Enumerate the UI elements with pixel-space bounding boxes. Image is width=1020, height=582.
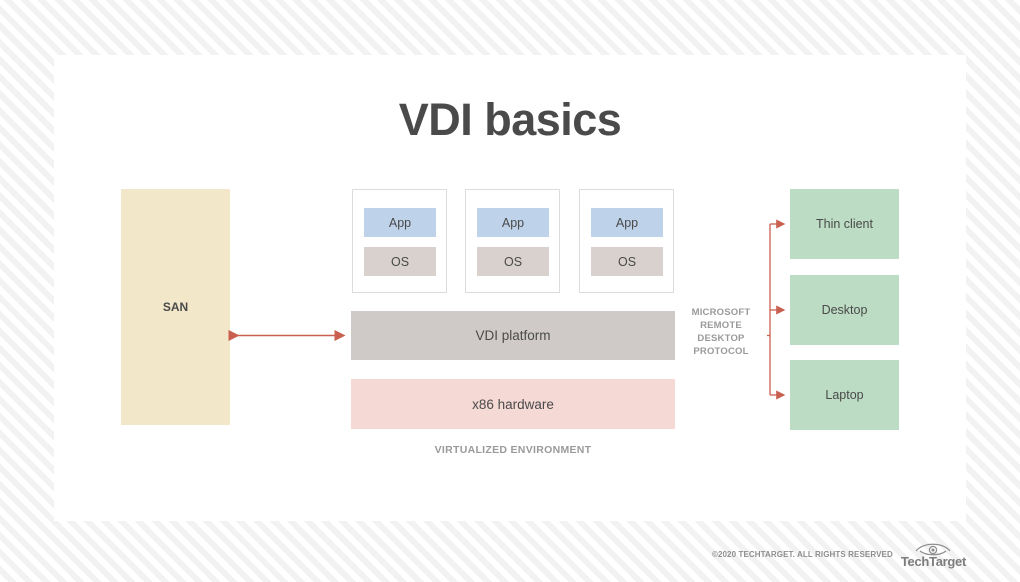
connector-lines — [0, 0, 1020, 582]
diagram-stage: VDI basics SAN App OS App OS App OS VDI … — [0, 0, 1020, 582]
protocol-label-line-4: PROTOCOL — [675, 345, 767, 358]
protocol-label-line-1: MICROSOFT — [675, 306, 767, 319]
protocol-label-line-3: DESKTOP — [675, 332, 767, 345]
protocol-label-line-2: REMOTE — [675, 319, 767, 332]
protocol-label: MICROSOFT REMOTE DESKTOP PROTOCOL — [675, 306, 767, 358]
